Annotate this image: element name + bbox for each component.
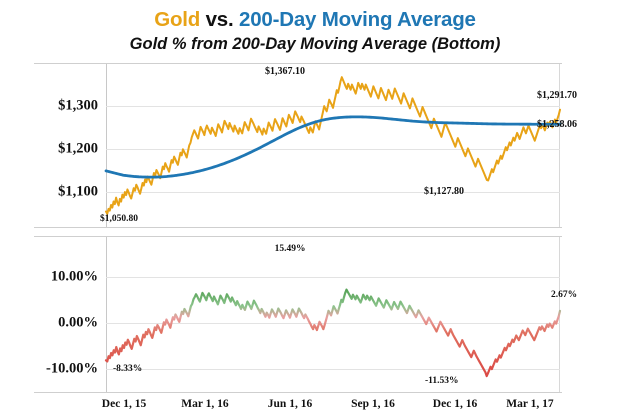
title-ma-word: 200-Day Moving Average bbox=[239, 8, 476, 31]
y-axis-label-top-1: $1,200 bbox=[0, 141, 98, 158]
title-gold-word: Gold bbox=[154, 8, 200, 31]
gridline-bottom-1 bbox=[106, 323, 560, 324]
chart-page: Gold vs. 200-Day Moving Average Gold % f… bbox=[0, 0, 630, 419]
annotation-bottom-3: 2.67% bbox=[551, 290, 577, 300]
annotation-bottom-0: -8.33% bbox=[113, 364, 142, 374]
gridline-bottom-2 bbox=[106, 369, 560, 370]
annotation-top-2: $1,127.80 bbox=[424, 186, 464, 197]
gridline-bottom-0 bbox=[106, 277, 560, 278]
gridline-top-2 bbox=[106, 192, 560, 193]
annotation-bottom-1: 15.49% bbox=[275, 244, 306, 254]
y-axis-label-bottom-0: 10.00% bbox=[0, 269, 98, 286]
frame-line-top-bottom bbox=[34, 227, 562, 228]
x-axis-label-3: Sep 1, 16 bbox=[351, 398, 395, 410]
title-vs-word: vs. bbox=[200, 8, 239, 31]
x-axis-label-2: Jun 1, 16 bbox=[268, 398, 312, 410]
y-axis-label-bottom-1: 0.00% bbox=[0, 315, 98, 332]
plot-area-top bbox=[106, 63, 560, 227]
annotation-top-4: $1,258.06 bbox=[537, 119, 577, 130]
frame-line-top-top bbox=[34, 63, 562, 64]
gridline-top-1 bbox=[106, 149, 560, 150]
x-axis-label-1: Mar 1, 16 bbox=[181, 398, 228, 410]
x-axis-label-4: Dec 1, 16 bbox=[433, 398, 477, 410]
frame-line-bottom-top bbox=[34, 236, 562, 237]
y-axis-label-top-0: $1,300 bbox=[0, 98, 98, 115]
annotation-top-1: $1,367.10 bbox=[265, 66, 305, 77]
annotation-top-3: $1,291.70 bbox=[537, 90, 577, 101]
y-axis-label-top-2: $1,100 bbox=[0, 184, 98, 201]
annotation-top-0: $1,050.80 bbox=[100, 214, 138, 224]
x-axis-label-0: Dec 1, 15 bbox=[102, 398, 146, 410]
x-axis-label-5: Mar 1, 17 bbox=[506, 398, 553, 410]
y-axis-label-bottom-2: -10.00% bbox=[0, 361, 98, 378]
frame-line-bottom-bottom bbox=[34, 392, 562, 393]
annotation-bottom-2: -11.53% bbox=[425, 376, 459, 386]
gridline-top-0 bbox=[106, 106, 560, 107]
chart-title: Gold vs. 200-Day Moving Average bbox=[0, 8, 630, 32]
chart-subtitle: Gold % from 200-Day Moving Average (Bott… bbox=[0, 35, 630, 54]
